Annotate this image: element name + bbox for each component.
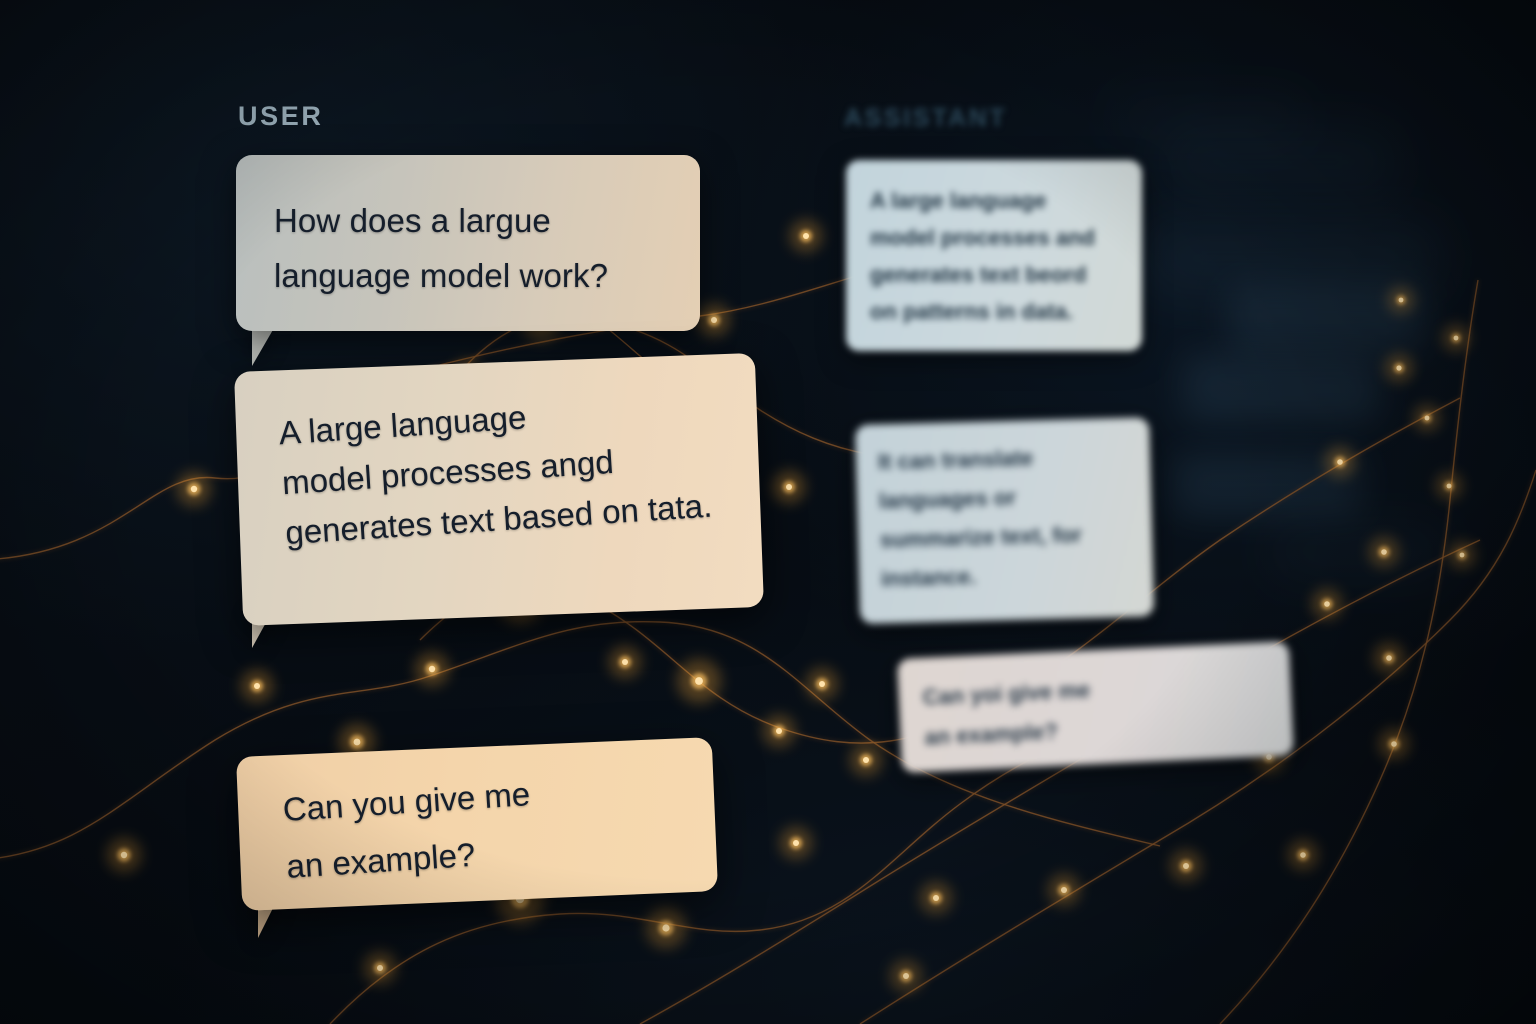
assistant-message-text: A large language model processes and gen… bbox=[870, 182, 1095, 330]
user-message-bubble[interactable]: A large language model processes angd ge… bbox=[234, 353, 764, 626]
assistant-message-text: Can yoi give me an example? bbox=[922, 670, 1093, 758]
column-label-user: USER bbox=[238, 101, 323, 132]
user-message-bubble[interactable]: Can you give me an example? bbox=[236, 737, 718, 911]
bubble-tail bbox=[252, 328, 274, 366]
assistant-message-text: It can translate languages or summarize … bbox=[877, 437, 1083, 598]
user-message-text: A large language model processes angd ge… bbox=[277, 381, 713, 558]
user-message-text: Can you give me an example? bbox=[281, 765, 535, 895]
column-label-assistant: ASSISTANT bbox=[844, 104, 1007, 133]
user-message-bubble[interactable]: How does a largue language model work? bbox=[236, 155, 700, 331]
light-strands bbox=[0, 250, 1536, 1024]
string-lights-layer bbox=[0, 0, 1536, 1024]
assistant-message-bubble[interactable]: It can translate languages or summarize … bbox=[855, 417, 1154, 624]
conversation-scene: USER ASSISTANT A large language model pr… bbox=[0, 0, 1536, 1024]
assistant-message-bubble[interactable]: A large language model processes and gen… bbox=[846, 160, 1142, 351]
assistant-message-bubble[interactable]: Can yoi give me an example? bbox=[897, 641, 1294, 773]
user-message-text: How does a largue language model work? bbox=[274, 193, 608, 303]
